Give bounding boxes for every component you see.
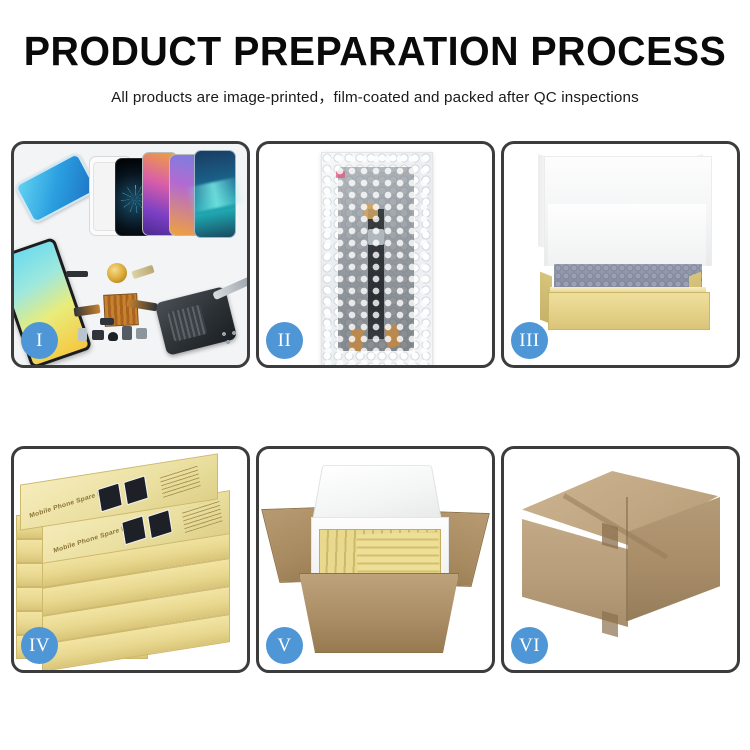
box-textlines-top bbox=[159, 463, 200, 498]
small-part-3 bbox=[108, 332, 118, 341]
pink-marker-tab bbox=[336, 171, 345, 178]
page-header: PRODUCT PREPARATION PROCESS All products… bbox=[0, 0, 750, 107]
small-part-6 bbox=[100, 318, 114, 325]
flex-cable-top bbox=[131, 265, 154, 279]
small-part-1 bbox=[78, 328, 87, 341]
earpiece-part bbox=[66, 271, 88, 277]
small-part-2 bbox=[92, 330, 104, 340]
process-step-6[interactable]: VI bbox=[501, 446, 740, 673]
packed-boxes-row-2 bbox=[356, 532, 439, 579]
process-step-4[interactable]: Mobile Phone Spare Parts Mobile Phone Sp… bbox=[11, 446, 250, 673]
carton-tape-lower bbox=[602, 611, 618, 638]
step-badge-2: II bbox=[266, 322, 303, 359]
small-part-5 bbox=[136, 328, 147, 339]
step-badge-6: VI bbox=[511, 627, 548, 664]
step-badge-4: IV bbox=[21, 627, 58, 664]
step-badge-5: V bbox=[266, 627, 303, 664]
page-subtitle: All products are image-printed，film-coat… bbox=[0, 85, 750, 107]
small-part-4 bbox=[122, 326, 132, 340]
process-step-5[interactable]: V bbox=[256, 446, 495, 673]
lcd-tape bbox=[364, 203, 378, 219]
page-title: PRODUCT PREPARATION PROCESS bbox=[15, 31, 735, 72]
box-front-yellow bbox=[548, 292, 710, 330]
process-step-grid: I II bbox=[11, 141, 739, 673]
screws-group bbox=[220, 330, 242, 346]
box-screen-top-1 bbox=[97, 482, 122, 512]
carton-tape-upper bbox=[602, 523, 618, 550]
box-screen-lower-1 bbox=[121, 515, 146, 545]
step-badge-3: III bbox=[511, 322, 548, 359]
process-step-2[interactable]: II bbox=[256, 141, 495, 368]
phone-display-teal bbox=[194, 150, 236, 238]
phone-frame-blue bbox=[14, 152, 98, 225]
shipping-carton-open bbox=[299, 573, 459, 653]
process-step-3[interactable]: III bbox=[501, 141, 740, 368]
step-badge-1: I bbox=[21, 322, 58, 359]
foam-sheet bbox=[548, 204, 706, 266]
speaker-module bbox=[107, 263, 127, 283]
box-screen-lower-2 bbox=[147, 509, 172, 539]
box-screen-top-2 bbox=[123, 475, 148, 505]
carton-vertical-edge bbox=[626, 497, 628, 621]
bubble-wrap-bag bbox=[321, 152, 433, 365]
process-step-1[interactable]: I bbox=[11, 141, 250, 368]
lcd-connector bbox=[368, 229, 384, 245]
